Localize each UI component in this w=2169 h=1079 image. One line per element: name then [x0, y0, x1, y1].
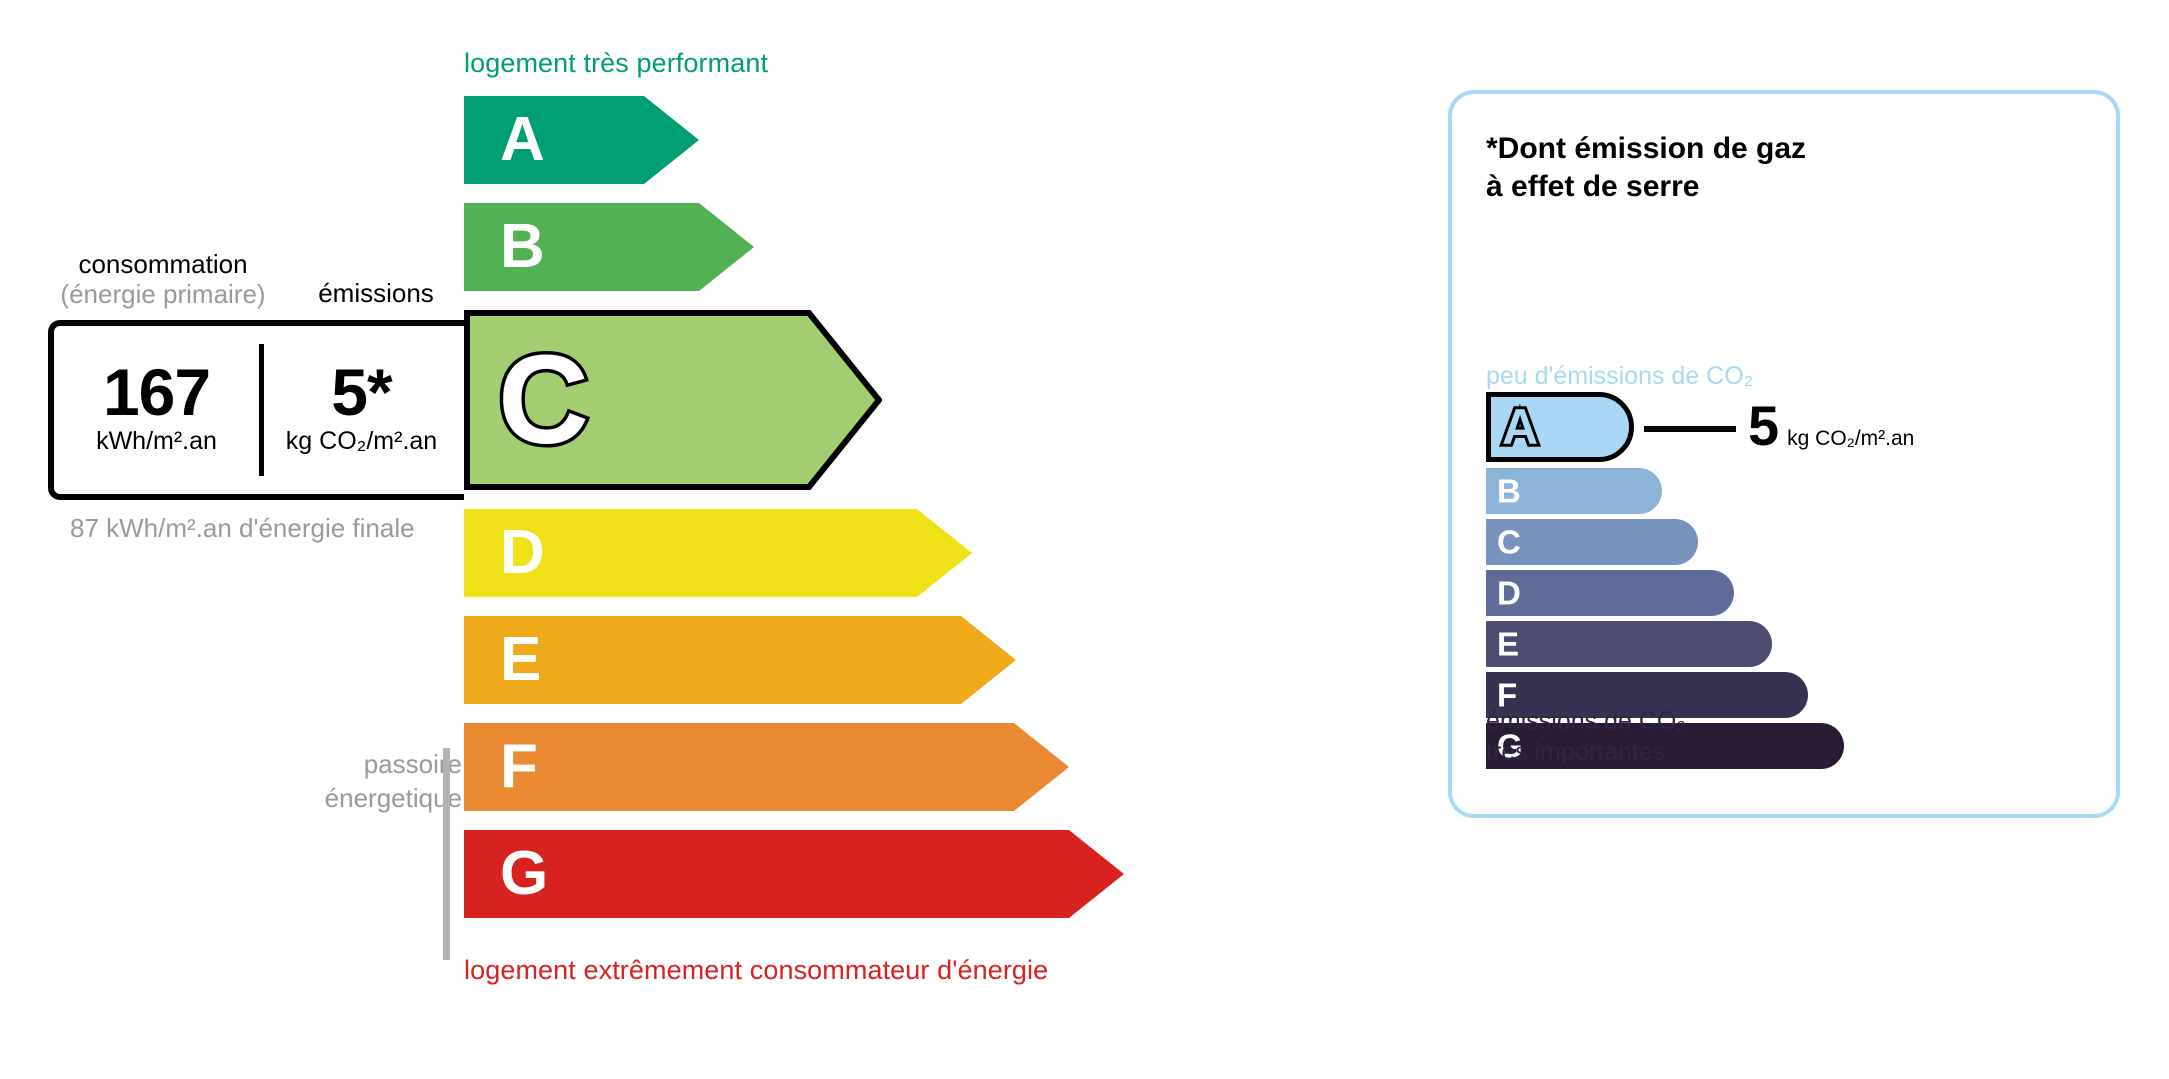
energy-bar-e: [464, 616, 1016, 704]
consumption-header: consommation (énergie primaire): [48, 250, 278, 310]
consumption-header-main: consommation: [78, 249, 247, 279]
co2-bar-letter-b: B: [1497, 475, 1521, 508]
co2-panel-title: *Dont émission de gaz à effet de serre: [1486, 130, 1806, 206]
co2-bar-letter-e: E: [1497, 628, 1519, 661]
energy-bar-letter-b: B: [500, 216, 545, 278]
co2-value: 5: [1748, 398, 1779, 454]
energy-bar-letter-e: E: [500, 629, 541, 691]
energy-bar-g: [464, 830, 1124, 918]
dpe-diagram: logement très performant ABCDEFG consomm…: [0, 0, 2169, 1079]
co2-bar-letter-a: A: [1502, 402, 1538, 452]
energy-bottom-caption: logement extrêmement consommateur d'éner…: [464, 955, 1048, 986]
final-energy-note: 87 kWh/m².an d'énergie finale: [70, 512, 415, 546]
emission-unit: kg CO₂/m².an: [286, 428, 437, 456]
passoire-bracket: [443, 748, 450, 960]
consumption-value-cell: 167 kWh/m².an: [54, 326, 259, 494]
co2-top-caption: peu d'émissions de CO₂: [1486, 362, 1753, 391]
passoire-label: passoire énergetique: [272, 748, 462, 816]
energy-bar-letter-f: F: [500, 736, 538, 798]
emissions-header: émissions: [288, 279, 464, 309]
co2-leader-line: [1644, 426, 1736, 432]
co2-bottom-caption: émissions de CO₂ très importantes: [1486, 706, 1686, 769]
co2-value-group: 5kg CO₂/m².an: [1748, 398, 1914, 454]
consumption-header-sub: (énergie primaire): [48, 280, 278, 310]
energy-bar-letter-a: A: [500, 109, 545, 171]
co2-unit: kg CO₂/m².an: [1787, 427, 1914, 451]
co2-bar-letter-c: C: [1497, 526, 1521, 559]
energy-bar-letter-d: D: [500, 522, 545, 584]
co2-panel: *Dont émission de gaz à effet de serre p…: [1448, 90, 2120, 818]
energy-bar-f: [464, 723, 1069, 811]
energy-bar-letter-g: G: [500, 843, 548, 905]
emission-value-cell: 5* kg CO₂/m².an: [259, 326, 464, 494]
emission-value: 5*: [331, 359, 391, 426]
co2-bar-letter-d: D: [1497, 577, 1521, 610]
consumption-value: 167: [103, 359, 210, 426]
energy-top-caption: logement très performant: [464, 48, 768, 79]
energy-bar-letter-c: C: [498, 337, 589, 463]
consumption-unit: kWh/m².an: [96, 428, 217, 456]
co2-bar-e: [1486, 621, 1772, 667]
co2-bar-d: [1486, 570, 1734, 616]
value-box: 167 kWh/m².an 5* kg CO₂/m².an: [48, 320, 464, 500]
emissions-header-label: émissions: [318, 278, 434, 308]
